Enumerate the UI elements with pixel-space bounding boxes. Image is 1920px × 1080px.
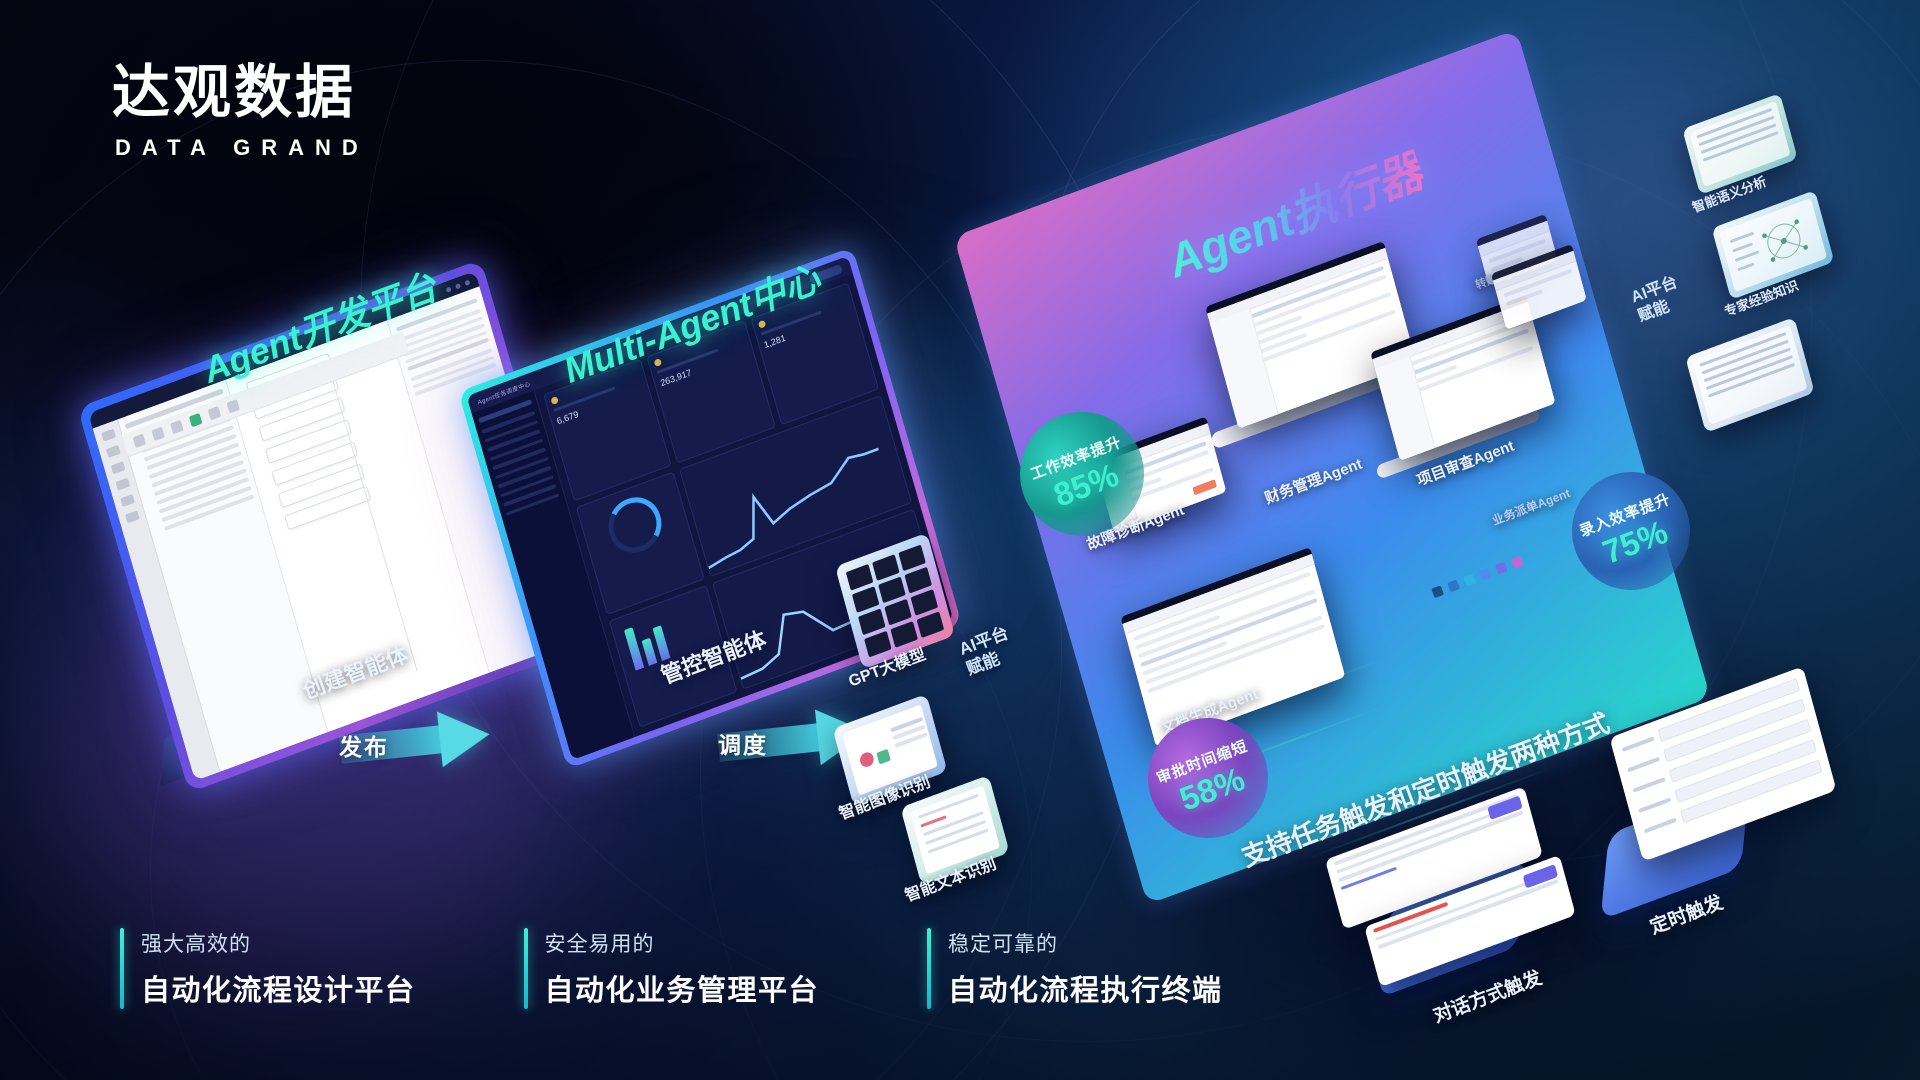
- rail-icon: [106, 445, 121, 458]
- model-tile: [911, 589, 939, 616]
- flow-label-publish: 发布: [339, 728, 389, 762]
- rail-icon: [101, 429, 116, 442]
- preview-circle-icon: [858, 750, 875, 768]
- field-label: [1627, 756, 1660, 772]
- window-dot-icon: [445, 286, 451, 293]
- window-dot-icon: [464, 279, 470, 286]
- footer-subtitle: 强大高效的: [141, 928, 416, 958]
- flow-label-dispatch: 调度: [718, 726, 768, 760]
- rail-icon: [125, 510, 140, 523]
- sidebar-item: [506, 493, 560, 516]
- model-tile: [898, 545, 926, 572]
- field-label: [1638, 797, 1671, 813]
- rail-icon: [115, 478, 130, 491]
- toolbar-run-icon: [189, 412, 202, 426]
- toolbar-icon: [208, 406, 221, 420]
- bar: [624, 627, 644, 671]
- footer-item-management: 安全易用的 自动化业务管理平台: [524, 928, 820, 1009]
- model-tile: [852, 586, 880, 613]
- footer-accent-bar: [120, 928, 124, 1009]
- footer-title: 自动化流程执行终端: [948, 967, 1223, 1009]
- gpt-model-grid: [846, 545, 944, 658]
- model-tile: [858, 608, 886, 635]
- footer-item-execution: 稳定可靠的 自动化流程执行终端: [927, 928, 1223, 1009]
- page-action-chip: [1192, 479, 1217, 495]
- preview-square-icon: [876, 749, 890, 765]
- model-tile: [904, 567, 932, 594]
- model-tile: [917, 611, 945, 638]
- footer-title: 自动化业务管理平台: [545, 967, 820, 1009]
- window-dot-icon: [455, 283, 461, 290]
- brand-logo: 达观数据 DATA GRAND: [112, 62, 369, 161]
- rail-icon: [110, 461, 125, 474]
- footer-title: 自动化流程设计平台: [141, 967, 416, 1009]
- toolbar-icon: [133, 433, 146, 447]
- field-label: [1644, 817, 1677, 833]
- field-label: [1621, 736, 1654, 752]
- footer-subtitle: 稳定可靠的: [948, 928, 1223, 958]
- field-label: [1633, 777, 1666, 793]
- rail-icon: [120, 494, 135, 507]
- footer-item-design: 强大高效的 自动化流程设计平台: [120, 928, 416, 1009]
- footer-subtitle: 安全易用的: [545, 928, 820, 958]
- toolbar-icon: [151, 426, 164, 440]
- footer-accent-bar: [524, 928, 528, 1009]
- model-tile: [878, 577, 906, 604]
- model-tile: [884, 599, 912, 626]
- gauge-donut: [602, 490, 668, 561]
- preview-lines: [890, 717, 923, 733]
- footer-accent-bar: [927, 928, 931, 1009]
- poster-canvas: 达观数据 DATA GRAND: [0, 0, 1920, 1080]
- brand-name-cn: 达观数据: [112, 62, 369, 125]
- arrow-head: [437, 706, 493, 767]
- footer-captions: 强大高效的 自动化流程设计平台 安全易用的 自动化业务管理平台 稳定可靠的 自动…: [120, 928, 1223, 1009]
- model-tile: [872, 554, 900, 581]
- toolbar-icon: [226, 399, 239, 413]
- kpi-dot-icon: [550, 396, 559, 405]
- toolbar-icon: [170, 419, 183, 433]
- brand-name-en: DATA GRAND: [112, 135, 369, 161]
- flow-connector: [326, 359, 418, 671]
- bar: [641, 637, 657, 665]
- model-tile: [846, 564, 874, 591]
